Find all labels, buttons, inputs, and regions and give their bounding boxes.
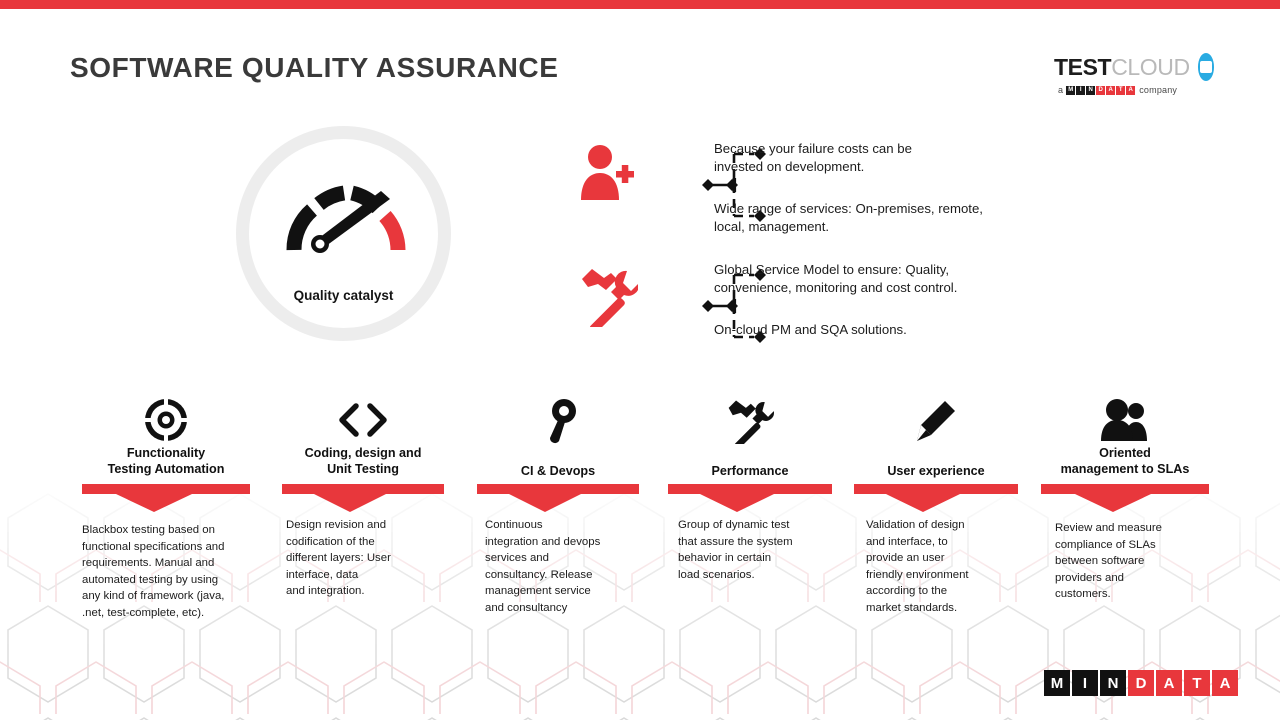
feature-column-performance: Performance Group of dynamic test that a…: [668, 396, 832, 616]
chip-d: D: [1096, 86, 1105, 95]
red-chevron-banner: [282, 484, 444, 512]
footer-letter-t: T: [1184, 670, 1210, 696]
bullet-group-2: Global Service Model to ensure: Quality,…: [578, 261, 1048, 351]
footer-letter-n: N: [1100, 670, 1126, 696]
key-icon: [477, 398, 639, 449]
column-heading: Performance: [668, 464, 832, 480]
red-chevron-banner: [668, 484, 832, 512]
column-body: Validation of design and interface, to p…: [866, 517, 1036, 616]
feature-column-coding: Coding, design and Unit Testing Design r…: [282, 396, 444, 616]
red-chevron-banner: [477, 484, 639, 512]
pencil-icon: [854, 398, 1018, 449]
column-body: Continuous integration and devops servic…: [485, 517, 655, 616]
mindata-footer-logo: M I N D A T A: [1044, 670, 1238, 696]
bullet-2-text-2: On-cloud PM and SQA solutions.: [714, 321, 1044, 339]
chip-n: N: [1086, 86, 1095, 95]
tools-icon: [668, 398, 832, 449]
footer-letter-m: M: [1044, 670, 1070, 696]
column-heading: Coding, design and Unit Testing: [282, 446, 444, 477]
tagline-suffix: company: [1139, 85, 1177, 95]
column-heading: Oriented management to SLAs: [1041, 446, 1209, 477]
chip-m: M: [1066, 86, 1075, 95]
chip-a1: A: [1106, 86, 1115, 95]
quality-catalyst-badge: Quality catalyst: [236, 126, 451, 341]
column-body: Blackbox testing based on functional spe…: [82, 522, 252, 621]
column-heading: User experience: [854, 464, 1018, 480]
testcloud-tagline: a M I N D A T A company: [1058, 85, 1214, 95]
rounded-square-in-circle-icon: [1198, 53, 1214, 81]
column-body: Design revision and codification of the …: [286, 517, 456, 600]
logo-text-test: TEST: [1054, 54, 1111, 81]
feature-column-functionality: Functionality Testing Automation Blackbo…: [82, 396, 250, 616]
user-plus-icon: [578, 140, 634, 202]
feature-column-sla-management: Oriented management to SLAs Review and m…: [1041, 396, 1209, 616]
footer-letter-a2: A: [1212, 670, 1238, 696]
testcloud-wordmark: TEST CLOUD: [1054, 54, 1214, 80]
red-chevron-banner: [1041, 484, 1209, 512]
feature-column-user-experience: User experience Validation of design and…: [854, 396, 1018, 616]
code-brackets-icon: [282, 400, 444, 445]
testcloud-logo: TEST CLOUD a M I N D A T A company: [1054, 54, 1214, 95]
top-accent-bar: [0, 0, 1280, 9]
bullet-1-text-1: Because your failure costs can be invest…: [714, 140, 1044, 176]
speedometer-icon: [286, 178, 406, 258]
hammer-wrench-icon: [578, 265, 638, 327]
red-chevron-banner: [82, 484, 250, 512]
gauge-label: Quality catalyst: [236, 288, 451, 304]
bullet-1-text-2: Wide range of services: On-premises, rem…: [714, 200, 1044, 236]
footer-letter-d: D: [1128, 670, 1154, 696]
tagline-prefix: a: [1058, 85, 1063, 95]
chip-i: I: [1076, 86, 1085, 95]
column-body: Review and measure compliance of SLAs be…: [1055, 520, 1225, 603]
page-title: SOFTWARE QUALITY ASSURANCE: [70, 52, 559, 84]
column-heading: CI & Devops: [477, 464, 639, 480]
column-heading: Functionality Testing Automation: [82, 446, 250, 477]
chip-a2: A: [1126, 86, 1135, 95]
footer-letter-a1: A: [1156, 670, 1182, 696]
lifebuoy-icon: [82, 396, 250, 449]
footer-letter-i: I: [1072, 670, 1098, 696]
feature-column-ci-devops: CI & Devops Continuous integration and d…: [477, 396, 639, 616]
users-icon: [1041, 398, 1209, 449]
bullet-group-1: Because your failure costs can be invest…: [578, 140, 1048, 230]
logo-text-cloud: CLOUD: [1111, 54, 1190, 81]
bullet-2-text-1: Global Service Model to ensure: Quality,…: [714, 261, 1044, 297]
chip-t: T: [1116, 86, 1125, 95]
red-chevron-banner: [854, 484, 1018, 512]
column-body: Group of dynamic test that assure the sy…: [678, 517, 848, 583]
tagline-mindata-chips: M I N D A T A: [1066, 86, 1136, 95]
